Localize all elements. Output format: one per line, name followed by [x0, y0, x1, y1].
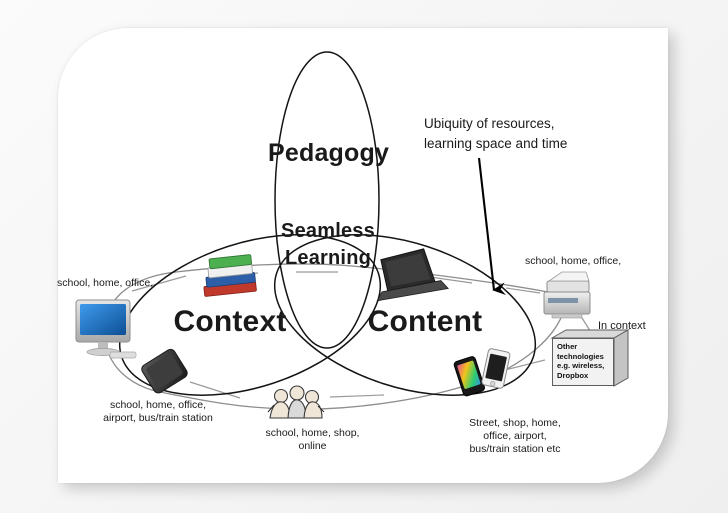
imac-icon	[76, 300, 136, 358]
other-technologies-box-text: Other technologies e.g. wireless, Dropbo…	[557, 342, 604, 380]
label-tablet-contexts: school, home, office, airport, bus/train…	[78, 399, 238, 425]
annotation-ubiquity: Ubiquity of resources, learning space an…	[424, 114, 614, 153]
books-icon	[201, 254, 257, 296]
label-content: Content	[355, 304, 495, 341]
printer-icon	[544, 272, 590, 318]
annotation-in-context: In context	[598, 320, 678, 333]
label-smartphones-contexts: Street, shop, home, office, airport, bus…	[440, 417, 590, 455]
tablet-icon	[140, 348, 189, 395]
label-pedagogy: Pedagogy	[268, 138, 388, 169]
label-seamless-learning: Seamless Learning	[276, 218, 380, 272]
laptop-icon	[370, 246, 448, 301]
label-printer-contexts: school, home, office,	[525, 255, 640, 268]
label-imac-contexts: school, home, office,	[57, 277, 217, 290]
smartphones-icon	[453, 348, 510, 397]
screenshot-stage: Pedagogy Seamless Learning Context Conte…	[0, 0, 728, 513]
children-icon	[268, 386, 324, 418]
other-technologies-box: Other technologies e.g. wireless, Dropbo…	[552, 338, 614, 386]
label-context: Context	[160, 304, 300, 341]
label-children-contexts: school, home, shop, online	[245, 427, 380, 453]
ubiquity-arrow	[479, 158, 494, 290]
